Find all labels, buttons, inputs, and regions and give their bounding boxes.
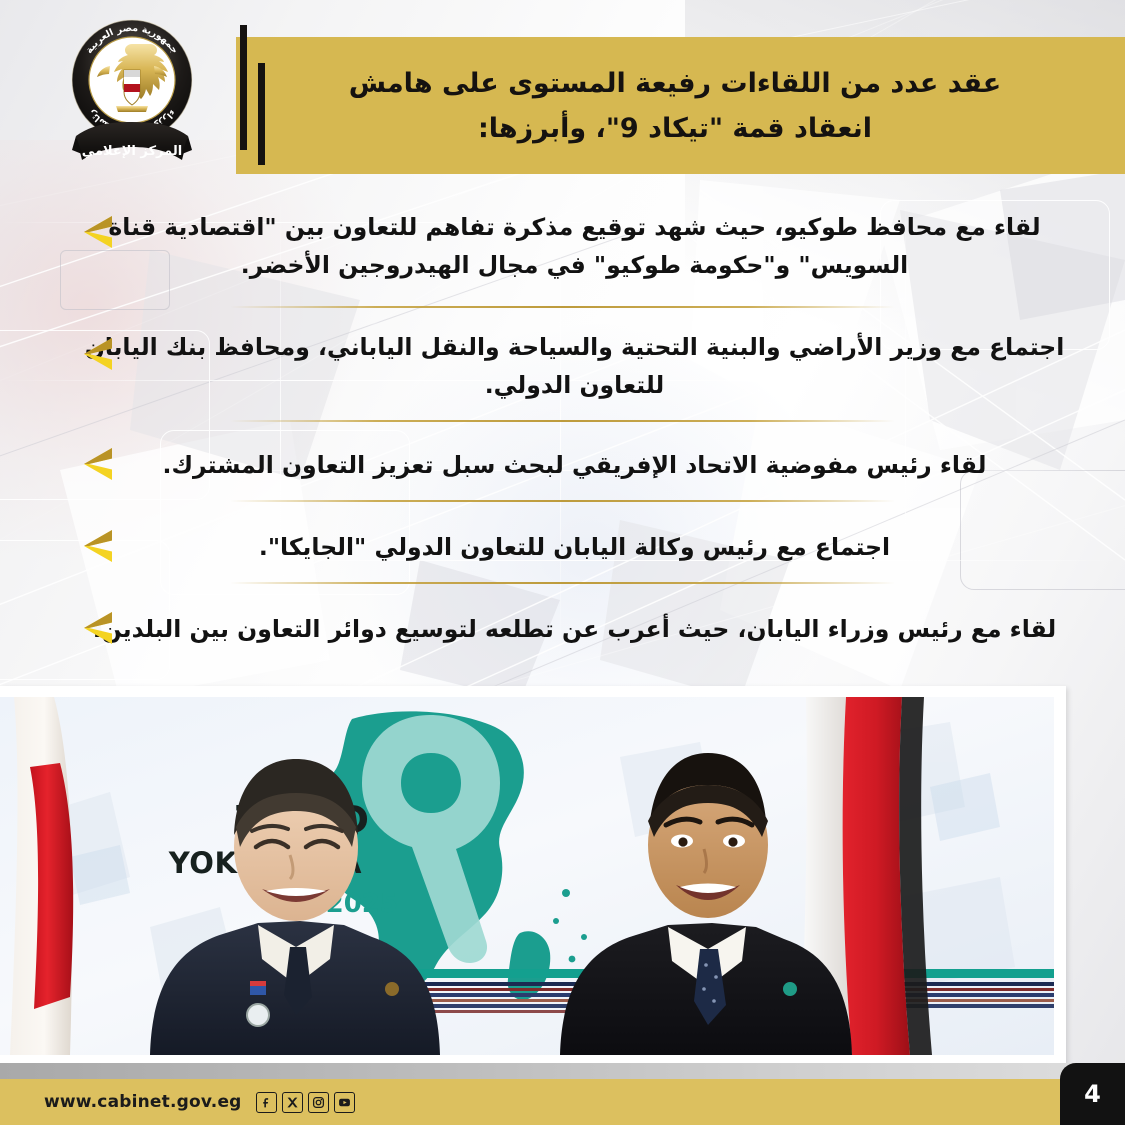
list-item-text: لقاء مع رئيس وزراء اليابان، حيث أعرب عن … xyxy=(80,610,1069,648)
list-item[interactable]: اجتماع مع رئيس وكالة اليابان للتعاون الد… xyxy=(0,502,1125,580)
chevron-left-icon xyxy=(81,526,121,566)
photo-frame: TICAD YOKOHAMA 2025 xyxy=(0,686,1066,1066)
list-item[interactable]: لقاء رئيس مفوضية الاتحاد الإفريقي لبحث س… xyxy=(0,422,1125,498)
list-item-text: لقاء مع محافظ طوكيو، حيث شهد توقيع مذكرة… xyxy=(80,208,1069,284)
chevron-left-icon xyxy=(81,334,121,374)
egypt-cabinet-media-center-logo: جمهورية مصر العربية رئاسة مجلس الوزراء ا… xyxy=(58,14,206,176)
list-item[interactable]: لقاء مع رئيس وزراء اليابان، حيث أعرب عن … xyxy=(0,584,1125,654)
header-accent-bar-tall xyxy=(240,25,247,150)
website-url[interactable]: www.cabinet.gov.eg xyxy=(44,1092,242,1112)
social-links xyxy=(256,1092,355,1113)
x-twitter-icon[interactable] xyxy=(282,1092,303,1113)
list-item-text: لقاء رئيس مفوضية الاتحاد الإفريقي لبحث س… xyxy=(80,446,1069,484)
chevron-left-icon xyxy=(81,608,121,648)
header-accent-bar-short xyxy=(258,63,265,165)
list-item-text: اجتماع مع وزير الأراضي والبنية التحتية و… xyxy=(80,328,1069,404)
page-number-badge: 4 xyxy=(1060,1063,1125,1125)
page-title: عقد عدد من اللقاءات رفيعة المستوى على ها… xyxy=(275,50,1075,162)
page-title-line-2: انعقاد قمة "تيكاد 9"، وأبرزها: xyxy=(478,111,872,147)
bullet-list: لقاء مع محافظ طوكيو، حيث شهد توقيع مذكرة… xyxy=(0,196,1125,686)
chevron-left-icon xyxy=(81,444,121,484)
youtube-icon[interactable] xyxy=(334,1092,355,1113)
footer-grey-strip xyxy=(0,1063,1125,1079)
list-item[interactable]: اجتماع مع وزير الأراضي والبنية التحتية و… xyxy=(0,308,1125,414)
list-item-text: اجتماع مع رئيس وكالة اليابان للتعاون الد… xyxy=(80,528,1069,566)
chevron-left-icon xyxy=(81,212,121,252)
list-item[interactable]: لقاء مع محافظ طوكيو، حيث شهد توقيع مذكرة… xyxy=(0,196,1125,300)
japan-flag xyxy=(10,697,73,1055)
handshake-photo: TICAD YOKOHAMA 2025 xyxy=(0,697,1054,1055)
page-title-line-1: عقد عدد من اللقاءات رفيعة المستوى على ها… xyxy=(349,66,1001,102)
facebook-icon[interactable] xyxy=(256,1092,277,1113)
logo-ribbon-text: المركز الإعلامي xyxy=(82,144,182,159)
footer-bar: www.cabinet.gov.eg xyxy=(0,1079,1125,1125)
header: عقد عدد من اللقاءات رفيعة المستوى على ها… xyxy=(0,0,1125,186)
instagram-icon[interactable] xyxy=(308,1092,329,1113)
